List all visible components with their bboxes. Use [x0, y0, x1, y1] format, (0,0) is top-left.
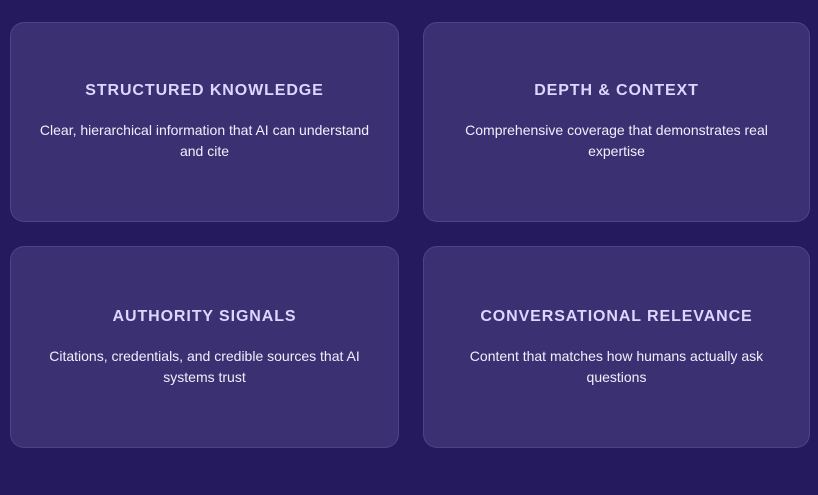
pillar-card-conversational-relevance[interactable]: CONVERSATIONAL RELEVANCE Content that ma… [423, 246, 810, 448]
pillar-card-authority-signals[interactable]: AUTHORITY SIGNALS Citations, credentials… [10, 246, 399, 448]
pillar-card-depth-and-context[interactable]: DEPTH & CONTEXT Comprehensive coverage t… [423, 22, 810, 222]
pillar-card-description: Citations, credentials, and credible sou… [40, 346, 370, 388]
pillar-card-title: DEPTH & CONTEXT [534, 81, 699, 100]
pillar-card-title: AUTHORITY SIGNALS [113, 307, 297, 326]
pillar-card-description: Content that matches how humans actually… [450, 346, 783, 388]
pillar-card-description: Clear, hierarchical information that AI … [40, 120, 370, 162]
pillar-card-title: STRUCTURED KNOWLEDGE [85, 81, 323, 100]
pillar-card-grid: STRUCTURED KNOWLEDGE Clear, hierarchical… [0, 0, 818, 495]
pillar-card-structured-knowledge[interactable]: STRUCTURED KNOWLEDGE Clear, hierarchical… [10, 22, 399, 222]
pillar-card-title: CONVERSATIONAL RELEVANCE [480, 307, 752, 326]
pillar-card-description: Comprehensive coverage that demonstrates… [450, 120, 783, 162]
